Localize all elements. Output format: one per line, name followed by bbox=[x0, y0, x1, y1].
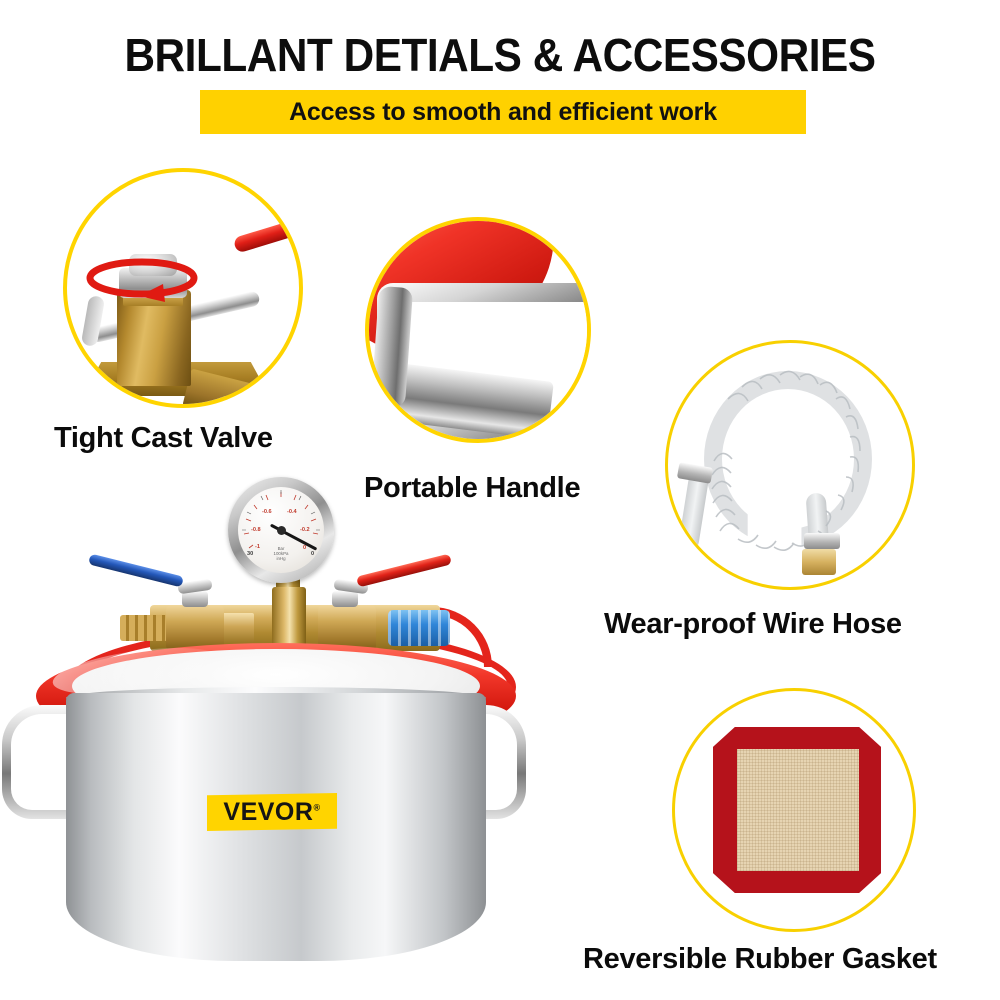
page-title: BRILLANT DETIALS & ACCESSORIES bbox=[40, 28, 960, 82]
gauge-unit-inhg: inHg bbox=[238, 556, 324, 561]
pressure-gauge: -1 -0.8 -0.6 -0.4 -0.2 0 30 0 Bar 100kPa… bbox=[228, 477, 334, 583]
subtitle-text: Access to smooth and efficient work bbox=[289, 98, 717, 127]
valve-red-lever bbox=[233, 200, 303, 254]
gauge-number-minus06: -0.6 bbox=[262, 509, 272, 515]
feature-circle-reversible-rubber-gasket bbox=[672, 688, 916, 932]
gauge-number-minus04: -0.4 bbox=[287, 509, 297, 515]
hose-illustration bbox=[668, 343, 912, 587]
gasket-illustration bbox=[675, 691, 913, 929]
quick-connect-fitting bbox=[388, 610, 450, 646]
feature-circle-tight-cast-valve bbox=[63, 168, 303, 408]
manifold-hose-barb bbox=[120, 615, 168, 641]
gauge-number-minus08: -0.8 bbox=[251, 527, 261, 533]
hose-right-fitting bbox=[802, 549, 836, 575]
registered-mark: ® bbox=[313, 802, 320, 812]
right-valve-lever bbox=[356, 554, 452, 588]
product-infographic: BRILLANT DETIALS & ACCESSORIES Access to… bbox=[0, 0, 1000, 1000]
left-valve-cap bbox=[182, 591, 208, 607]
vacuum-chamber-illustration: -1 -0.8 -0.6 -0.4 -0.2 0 30 0 Bar 100kPa… bbox=[0, 455, 620, 1000]
hose-wire-ribs-icon bbox=[668, 343, 912, 587]
caption-tight-cast-valve: Tight Cast Valve bbox=[54, 422, 273, 455]
quick-connect-grip bbox=[388, 610, 450, 646]
hose-right-clamp bbox=[804, 533, 840, 549]
right-valve-cap bbox=[332, 591, 358, 607]
feature-circle-portable-handle bbox=[365, 217, 591, 443]
vevor-logo-badge: VEVOR® bbox=[207, 793, 337, 831]
gauge-face: -1 -0.8 -0.6 -0.4 -0.2 0 30 0 Bar 100kPa… bbox=[238, 487, 324, 573]
feature-circle-wear-proof-wire-hose bbox=[665, 340, 915, 590]
rotation-arrow-icon bbox=[77, 250, 207, 320]
handle-illustration bbox=[369, 221, 587, 439]
left-valve-lever bbox=[88, 554, 184, 588]
gasket-mesh-center bbox=[737, 749, 859, 871]
valve-illustration bbox=[67, 172, 299, 404]
caption-reversible-rubber-gasket: Reversible Rubber Gasket bbox=[583, 943, 937, 976]
caption-wear-proof-wire-hose: Wear-proof Wire Hose bbox=[604, 608, 902, 641]
gauge-number-minus02: -0.2 bbox=[300, 527, 310, 533]
subtitle-banner: Access to smooth and efficient work bbox=[200, 90, 806, 134]
vevor-logo-text: VEVOR® bbox=[223, 798, 320, 827]
gauge-hub bbox=[277, 526, 286, 535]
